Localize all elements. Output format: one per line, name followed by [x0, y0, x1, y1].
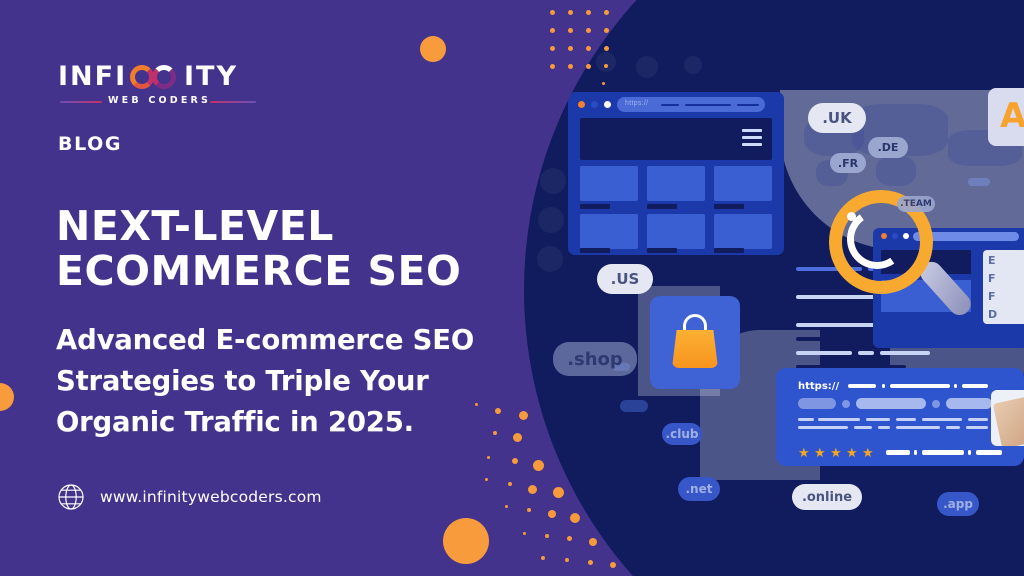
decor-circle — [684, 56, 702, 74]
headline-line-1: NEXT-LEVEL — [56, 204, 526, 249]
page-subtitle: Advanced E-commerce SEO Strategies to Tr… — [56, 320, 516, 443]
banner-canvas: https:// — [0, 0, 1024, 576]
browser-grid-card[interactable] — [647, 166, 705, 201]
subheadline-line-3: Organic Traffic in 2025. — [56, 402, 516, 443]
decor-circle — [596, 52, 616, 72]
browser-hero — [580, 118, 772, 160]
infinity-icon — [130, 64, 180, 90]
pill-label: .shop — [567, 349, 623, 370]
rating-star: ★ — [862, 446, 874, 459]
pill-label: .net — [686, 482, 713, 496]
brand-logo-tagline: WEB CODERS — [58, 94, 258, 108]
decor-circle — [538, 207, 564, 233]
letter-card-glyph: A — [1000, 96, 1024, 136]
decor-circle — [540, 168, 566, 194]
domain-pill-club[interactable]: .club — [662, 423, 702, 445]
subheadline-line-1: Advanced E-commerce SEO — [56, 320, 516, 361]
pill-label: .online — [802, 490, 852, 505]
browser-url-bar[interactable]: https:// — [617, 97, 765, 112]
browser-window[interactable]: https:// — [568, 92, 784, 255]
shopping-bag-icon — [672, 330, 718, 368]
browser-grid-caption — [714, 248, 744, 253]
domain-pill-net[interactable]: .net — [678, 477, 720, 501]
domain-pill-fr[interactable]: .FR — [830, 153, 866, 173]
headline-line-2: ECOMMERCE SEO — [56, 249, 526, 294]
domain-pill-team[interactable]: .TEAM — [897, 196, 935, 212]
illustration-disc: https:// — [524, 0, 1024, 576]
side-letter: F — [988, 272, 996, 285]
domain-pill-shop[interactable]: .shop — [553, 342, 637, 376]
browser-grid-card[interactable] — [714, 166, 772, 201]
domain-pill-uk[interactable]: .UK — [808, 103, 866, 133]
domain-pill-app[interactable]: .app — [937, 492, 979, 516]
side-letter: D — [988, 308, 997, 321]
logo-tagline-text: WEB CODERS — [108, 94, 211, 108]
decor-circle — [537, 246, 563, 272]
magnifier-glint — [847, 212, 856, 221]
rating-star: ★ — [830, 446, 842, 459]
result-url-prefix: https:// — [798, 381, 839, 392]
rating-star: ★ — [846, 446, 858, 459]
pill-label: .club — [666, 427, 699, 441]
browser-grid-card[interactable] — [580, 214, 638, 249]
pill-label: .UK — [822, 109, 852, 127]
rating-star: ★ — [814, 446, 826, 459]
pill-label: .DE — [878, 141, 899, 154]
domain-pill-de[interactable]: .DE — [868, 137, 908, 158]
pill-label: .FR — [838, 157, 858, 170]
decor-circle — [636, 56, 658, 78]
pill-label: .app — [943, 497, 973, 511]
browser-grid-caption — [580, 204, 610, 209]
content-column: INFI ITY WEB CODERS BLOG NEXT-LEVEL ECOM… — [0, 0, 540, 576]
browser-grid-caption — [714, 204, 744, 209]
browser-grid-card[interactable] — [580, 166, 638, 201]
brand-logo-wordmark: INFI ITY — [58, 62, 258, 92]
secondary-side-panel: E F F D — [983, 250, 1024, 324]
illustration-art: https:// — [524, 0, 1024, 576]
browser-grid-caption — [580, 248, 610, 253]
page-title: NEXT-LEVEL ECOMMERCE SEO — [56, 204, 526, 294]
traffic-light-minimize[interactable] — [591, 101, 598, 108]
side-letter: F — [988, 290, 996, 303]
domain-pill-us[interactable]: .US — [597, 264, 653, 294]
website-url-text: www.infinitywebcoders.com — [100, 488, 322, 506]
pill-label: .US — [611, 270, 640, 288]
traffic-light-close[interactable] — [578, 101, 585, 108]
shopping-bag-tile — [650, 296, 740, 389]
brand-logo[interactable]: INFI ITY WEB CODERS — [58, 62, 258, 110]
logo-word-part-b: ITY — [184, 62, 238, 92]
pill-label: .TEAM — [900, 199, 932, 209]
domain-pill-online[interactable]: .online — [792, 484, 862, 510]
rating-star: ★ — [798, 446, 810, 459]
url-prefix-text: https:// — [625, 100, 648, 107]
eyebrow-label: BLOG — [58, 133, 122, 155]
hamburger-icon[interactable] — [742, 129, 762, 150]
search-result-card[interactable]: https:// — [776, 368, 1024, 466]
globe-icon — [56, 482, 86, 512]
logo-word-part-a: INFI — [58, 62, 127, 92]
browser-grid-caption — [647, 248, 677, 253]
browser-grid-caption — [647, 204, 677, 209]
website-footer[interactable]: www.infinitywebcoders.com — [56, 482, 322, 512]
result-thumbnail — [991, 390, 1024, 446]
side-letter: E — [988, 254, 996, 267]
browser-grid-card[interactable] — [714, 214, 772, 249]
browser-grid-card[interactable] — [647, 214, 705, 249]
letter-card: A — [988, 88, 1024, 146]
subheadline-line-2: Strategies to Triple Your — [56, 361, 516, 402]
traffic-light-maximize[interactable] — [604, 101, 611, 108]
